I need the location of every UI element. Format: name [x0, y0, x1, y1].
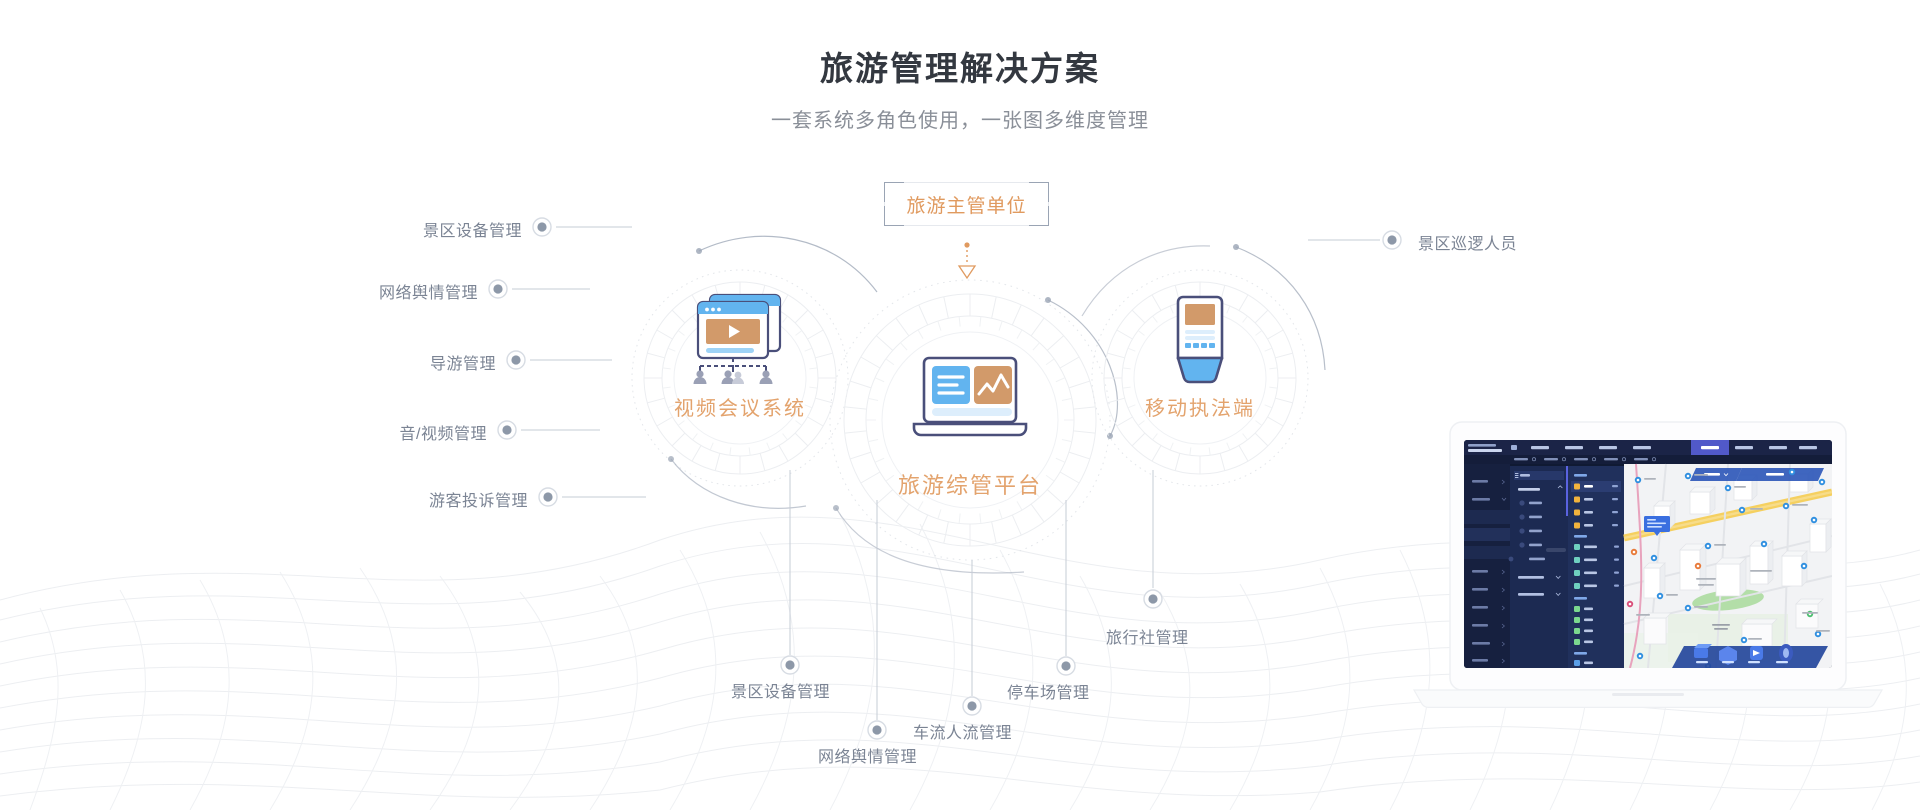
left-node-label-4[interactable]: 游客投诉管理	[429, 487, 528, 511]
governing-unit-box[interactable]: 旅游主管单位	[884, 182, 1049, 226]
bottom-node-label-1[interactable]: 网络舆情管理	[818, 743, 917, 767]
left-node-label-0[interactable]: 景区设备管理	[423, 217, 522, 241]
page-title: 旅游管理解决方案	[0, 42, 1920, 90]
bottom-node-label-0[interactable]: 景区设备管理	[731, 678, 830, 702]
laptop-dashboard-icon	[908, 354, 1032, 444]
left-connectors	[512, 227, 646, 497]
governing-unit-label: 旅游主管单位	[884, 182, 1049, 226]
left-node-dots	[489, 218, 557, 506]
bottom-node-label-4[interactable]: 旅行社管理	[1106, 624, 1189, 648]
poster-canvas: 旅游管理解决方案 一套系统多角色使用，一张图多维度管理	[0, 0, 1920, 810]
left-node-label-1[interactable]: 网络舆情管理	[379, 279, 478, 303]
right-node-dots	[1383, 231, 1401, 249]
right-node-label-0[interactable]: 景区巡逻人员	[1418, 230, 1517, 254]
cluster-caption-tourism-platform[interactable]: 旅游综管平台	[898, 468, 1042, 500]
left-node-label-3[interactable]: 音/视频管理	[400, 420, 487, 444]
page-subtitle: 一套系统多角色使用，一张图多维度管理	[0, 104, 1920, 133]
video-conference-icon	[678, 289, 802, 384]
cluster-caption-mobile-enforcement[interactable]: 移动执法端	[1145, 392, 1255, 421]
laptop-mockup	[1398, 418, 1898, 718]
bottom-node-label-3[interactable]: 停车场管理	[1007, 679, 1090, 703]
gov-arrow	[959, 242, 975, 278]
cluster-caption-video-conference[interactable]: 视频会议系统	[674, 392, 806, 421]
handheld-terminal-icon	[1169, 294, 1231, 390]
left-node-label-2[interactable]: 导游管理	[430, 350, 496, 374]
bottom-node-label-2[interactable]: 车流人流管理	[913, 719, 1012, 743]
